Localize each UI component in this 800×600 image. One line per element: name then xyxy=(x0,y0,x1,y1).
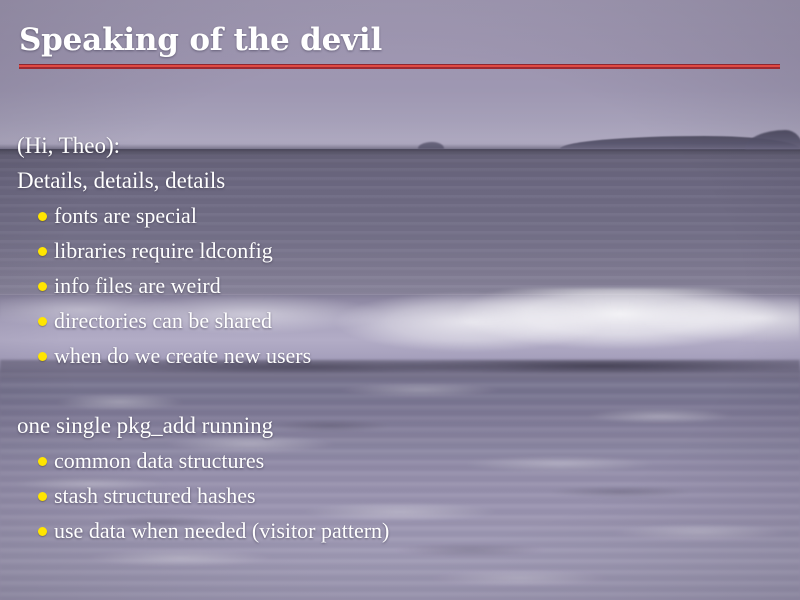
bullet-point-icon xyxy=(38,352,47,361)
slide-content: Speaking of the devil (Hi, Theo):Details… xyxy=(0,0,800,600)
bullet-list-item: when do we create new users xyxy=(0,338,800,373)
line-text: (Hi, Theo): xyxy=(17,133,120,158)
slide-body: (Hi, Theo):Details, details, detailsfont… xyxy=(0,128,800,548)
bullet-point-icon xyxy=(38,317,47,326)
line-text: info files are weird xyxy=(54,273,221,298)
bullet-list-item: libraries require ldconfig xyxy=(0,233,800,268)
bullet-point-icon xyxy=(38,457,47,466)
bullet-point-icon xyxy=(38,247,47,256)
bullet-point-icon xyxy=(38,492,47,501)
line-text: Details, details, details xyxy=(17,168,225,193)
title-underline-rule xyxy=(19,64,780,69)
bullet-list-item: info files are weird xyxy=(0,268,800,303)
body-line: one single pkg_add running xyxy=(0,408,800,443)
bullet-point-icon xyxy=(38,212,47,221)
bullet-list-item: fonts are special xyxy=(0,198,800,233)
line-text: one single pkg_add running xyxy=(17,413,273,438)
blank-line xyxy=(0,373,800,408)
bullet-list-item: stash structured hashes xyxy=(0,478,800,513)
body-line: Details, details, details xyxy=(0,163,800,198)
line-text: common data structures xyxy=(54,448,264,473)
bullet-list-item: use data when needed (visitor pattern) xyxy=(0,513,800,548)
bullet-list-item: common data structures xyxy=(0,443,800,478)
line-text: libraries require ldconfig xyxy=(54,238,273,263)
body-line: (Hi, Theo): xyxy=(0,128,800,163)
line-text: directories can be shared xyxy=(54,308,272,333)
bullet-list-item: directories can be shared xyxy=(0,303,800,338)
bullet-point-icon xyxy=(38,282,47,291)
bullet-point-icon xyxy=(38,527,47,536)
line-text: stash structured hashes xyxy=(54,483,256,508)
line-text: when do we create new users xyxy=(54,343,311,368)
presentation-slide: Speaking of the devil (Hi, Theo):Details… xyxy=(0,0,800,600)
line-text: fonts are special xyxy=(54,203,197,228)
line-text: use data when needed (visitor pattern) xyxy=(54,518,389,543)
slide-title: Speaking of the devil xyxy=(19,21,382,59)
